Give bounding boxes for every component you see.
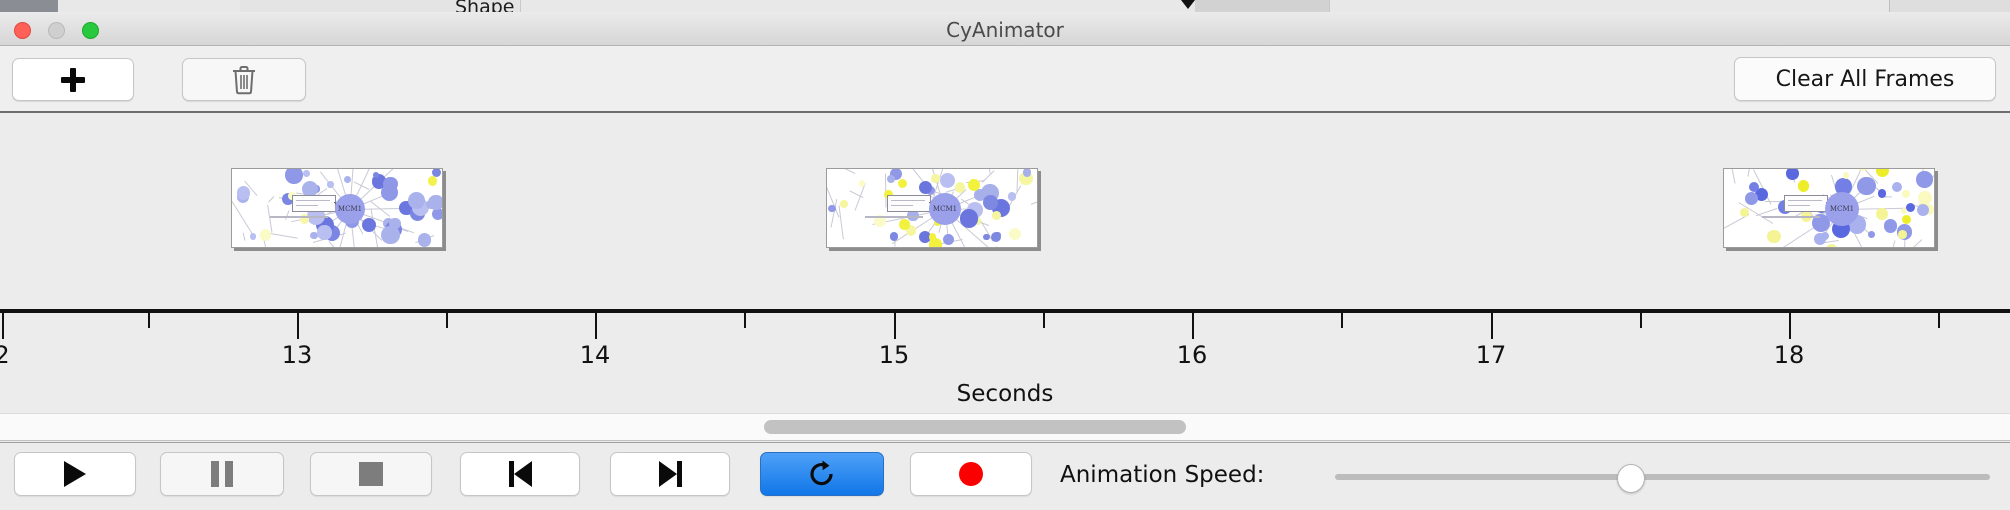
network-edge	[826, 168, 855, 174]
next-frame-button[interactable]	[610, 452, 730, 496]
timeline-tick-minor	[744, 313, 746, 328]
pause-button[interactable]	[160, 452, 284, 496]
network-node	[887, 175, 895, 183]
timeline-panel[interactable]: MCM1MCM1MCM1 2131415161718 Seconds	[0, 113, 2010, 413]
network-hub-node: MCM1	[929, 193, 961, 225]
timeline-tick-minor	[148, 313, 150, 328]
network-thumbnail-image: MCM1	[1724, 169, 1934, 247]
network-node	[931, 174, 939, 182]
network-edge	[286, 210, 290, 219]
network-annotation-line	[296, 200, 330, 201]
timeline-frame-thumbnail[interactable]: MCM1	[1723, 168, 1935, 248]
network-node	[426, 200, 435, 209]
timeline-tick-major	[894, 313, 896, 339]
network-node	[1918, 191, 1932, 205]
skip-back-icon	[509, 461, 532, 487]
skip-forward-icon	[659, 461, 682, 487]
network-edge	[268, 196, 275, 203]
network-node	[250, 233, 256, 239]
timeline-tick-label: 17	[1476, 341, 1507, 369]
network-node	[968, 179, 980, 191]
network-annotation-line	[296, 205, 318, 206]
network-node	[1901, 208, 1907, 214]
network-node	[828, 205, 835, 212]
background-caret-icon	[1181, 0, 1195, 9]
stop-button[interactable]	[310, 452, 432, 496]
network-node	[1740, 208, 1749, 217]
play-icon	[64, 461, 86, 487]
network-annotation-line	[891, 200, 925, 201]
network-caption-line	[270, 216, 328, 218]
title-bar: CyAnimator	[0, 12, 2010, 46]
network-node	[840, 200, 848, 208]
network-node	[1821, 232, 1829, 240]
timeline-frame-thumbnail[interactable]: MCM1	[231, 168, 443, 248]
pause-icon	[211, 461, 233, 487]
network-node	[1749, 182, 1759, 192]
play-button[interactable]	[14, 452, 136, 496]
network-node	[1884, 219, 1897, 232]
network-node	[955, 182, 965, 192]
timeline-tick-label: 14	[580, 341, 611, 369]
timeline-scrollbar[interactable]	[0, 413, 2010, 441]
network-node	[1892, 182, 1902, 192]
timeline-axis	[0, 309, 2010, 313]
network-node	[1843, 172, 1849, 178]
network-node	[983, 234, 990, 241]
timeline-tick-major	[595, 313, 597, 339]
previous-frame-button[interactable]	[460, 452, 580, 496]
timeline-tick-major	[2, 313, 4, 339]
timeline-tick-minor	[1043, 313, 1045, 328]
axis-title: Seconds	[0, 381, 2010, 407]
network-edge	[231, 201, 252, 234]
timeline-scrollbar-thumb[interactable]	[764, 420, 1186, 434]
control-bar-divider	[0, 442, 2010, 443]
network-node	[1826, 244, 1837, 248]
network-edge	[986, 168, 990, 174]
network-node	[1857, 177, 1875, 195]
timeline-tick-minor	[1341, 313, 1343, 328]
network-edge	[1747, 168, 1750, 177]
network-node	[983, 195, 998, 210]
network-node	[890, 232, 899, 241]
network-edge	[1723, 214, 1750, 235]
network-edge	[838, 206, 843, 240]
trash-icon	[231, 65, 257, 95]
network-edge	[1908, 239, 1923, 248]
network-node	[1868, 231, 1875, 238]
timeline-tick-major	[1789, 313, 1791, 339]
playback-control-bar: Animation Speed:	[0, 442, 2010, 510]
network-edge	[267, 204, 272, 232]
network-node	[418, 233, 432, 247]
network-hub-node: MCM1	[1825, 192, 1859, 226]
network-node	[408, 192, 425, 209]
network-node	[389, 218, 400, 229]
network-edge	[1891, 240, 1896, 248]
network-node	[992, 211, 1001, 220]
timeline-tick-label: 15	[879, 341, 910, 369]
stop-icon	[359, 462, 383, 486]
loop-icon	[807, 459, 837, 489]
network-hub-node: MCM1	[335, 194, 365, 224]
network-node	[1906, 203, 1915, 212]
timeline-tick-label: 16	[1177, 341, 1208, 369]
network-node	[327, 181, 333, 187]
network-thumbnail-image: MCM1	[232, 169, 442, 247]
network-caption-line	[865, 216, 923, 218]
network-node	[1767, 230, 1781, 244]
network-node	[1876, 208, 1888, 220]
clear-all-frames-button[interactable]: Clear All Frames	[1734, 57, 1996, 101]
network-node	[1902, 215, 1911, 224]
animation-speed-label: Animation Speed:	[1060, 462, 1264, 488]
network-node	[1898, 230, 1907, 239]
network-node	[1008, 192, 1016, 200]
network-node	[943, 234, 954, 245]
network-node	[344, 176, 351, 183]
window-title: CyAnimator	[0, 18, 2010, 42]
network-node	[919, 181, 932, 194]
network-node	[899, 219, 910, 230]
network-node	[960, 209, 979, 228]
network-node	[317, 225, 331, 239]
toolbar: Clear All Frames	[0, 46, 2010, 113]
network-node	[1023, 168, 1032, 177]
network-node	[940, 173, 955, 188]
network-edge	[1731, 168, 1736, 184]
record-button[interactable]	[910, 452, 1032, 496]
network-annotation-line	[891, 205, 913, 206]
network-node	[260, 229, 271, 240]
network-node	[1916, 171, 1932, 187]
network-annotation-box	[1784, 195, 1828, 212]
network-annotation-box	[887, 195, 931, 212]
network-edge	[1756, 208, 1777, 216]
timeline-tick-major	[297, 313, 299, 339]
record-icon	[959, 462, 983, 486]
network-node	[1745, 192, 1758, 205]
timeline-tick-minor	[1640, 313, 1642, 328]
network-caption-line	[1762, 216, 1820, 218]
timeline-tick-label: 18	[1774, 341, 1805, 369]
slider-thumb[interactable]	[1617, 464, 1645, 493]
network-node	[373, 172, 379, 178]
network-annotation-box	[292, 195, 336, 212]
loop-button[interactable]	[760, 452, 884, 496]
network-node	[1798, 180, 1810, 192]
network-node	[285, 168, 302, 184]
network-node	[428, 176, 438, 186]
network-annotation-line	[1788, 205, 1810, 206]
network-edge	[243, 233, 246, 241]
network-node	[383, 177, 397, 191]
network-node	[859, 180, 866, 187]
network-node	[1009, 228, 1021, 240]
timeline-frame-thumbnail[interactable]: MCM1	[826, 168, 1038, 248]
animation-speed-slider[interactable]	[1335, 462, 1990, 492]
timeline-tick-label: 13	[282, 341, 313, 369]
network-node	[303, 170, 310, 177]
slider-track	[1335, 474, 1990, 480]
network-node	[898, 179, 907, 188]
network-node	[1786, 168, 1799, 180]
network-node	[1902, 190, 1910, 198]
plus-icon	[61, 68, 85, 92]
timeline-tick-major	[1192, 313, 1194, 339]
cyanimator-window: Shape CyAnimator Clear All Frames MCM1MC…	[0, 0, 2010, 510]
delete-frame-button[interactable]	[182, 58, 306, 101]
network-node	[1876, 168, 1889, 177]
timeline-tick-label: 2	[0, 341, 10, 369]
timeline-tick-minor	[1938, 313, 1940, 328]
timeline-tick-minor	[446, 313, 448, 328]
network-edge	[1031, 194, 1038, 205]
timeline-tick-major	[1491, 313, 1493, 339]
network-annotation-line	[1788, 200, 1822, 201]
network-node	[1917, 204, 1929, 216]
add-frame-button[interactable]	[12, 58, 134, 101]
network-thumbnail-image: MCM1	[827, 169, 1037, 247]
